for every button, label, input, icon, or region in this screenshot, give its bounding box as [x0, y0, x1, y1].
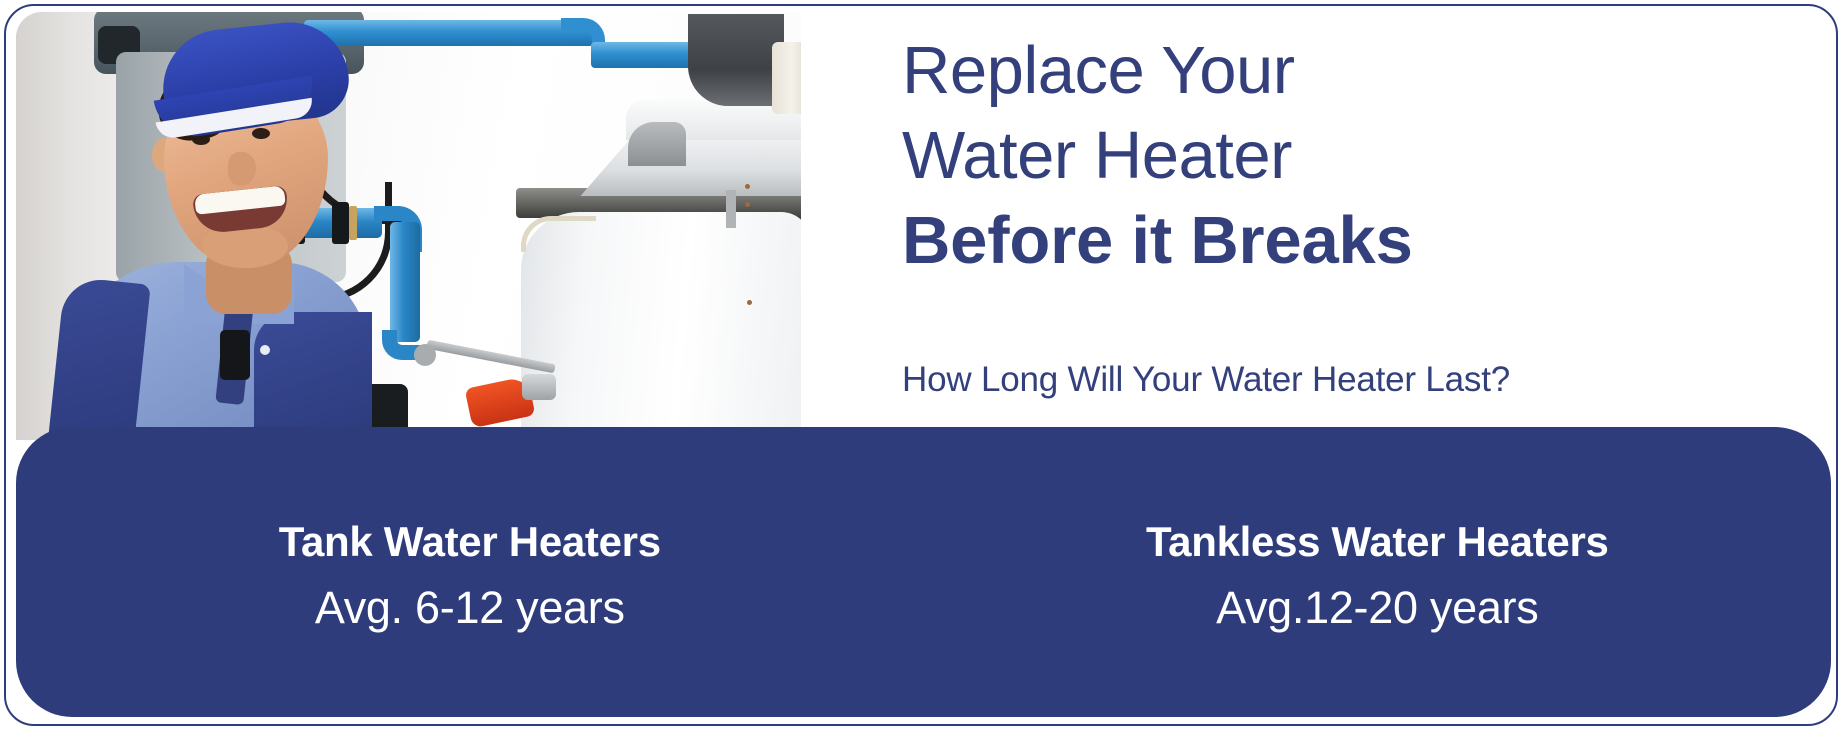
headline-block: Replace Your Water Heater Before it Brea… [902, 28, 1662, 283]
headline-line-1: Replace Your [902, 28, 1662, 113]
headline-line-2: Water Heater [902, 113, 1662, 198]
technician-overall-left [47, 276, 151, 440]
photo-background [16, 12, 801, 440]
infographic-card: Replace Your Water Heater Before it Brea… [4, 4, 1838, 726]
headline-line-3-bold: Before it Breaks [902, 198, 1662, 283]
lifespan-column-tankless: Tankless Water Heaters Avg.12-20 years [924, 505, 1832, 639]
technician-overall-right [254, 312, 372, 440]
technician-buckle [220, 330, 250, 380]
lifespan-column-tank: Tank Water Heaters Avg. 6-12 years [16, 505, 924, 639]
technician-shirt-button-1 [260, 345, 270, 355]
subheadline: How Long Will Your Water Heater Last? [902, 358, 1510, 402]
lifespan-title-tankless: Tankless Water Heaters [924, 515, 1832, 569]
technician-figure [16, 12, 801, 440]
lifespan-banner: Tank Water Heaters Avg. 6-12 years Tankl… [16, 427, 1831, 717]
lifespan-value-tankless: Avg.12-20 years [924, 577, 1832, 639]
lifespan-value-tank: Avg. 6-12 years [16, 577, 924, 639]
technician-eye-right [252, 128, 270, 139]
lifespan-title-tank: Tank Water Heaters [16, 515, 924, 569]
hero-photo [16, 12, 801, 440]
